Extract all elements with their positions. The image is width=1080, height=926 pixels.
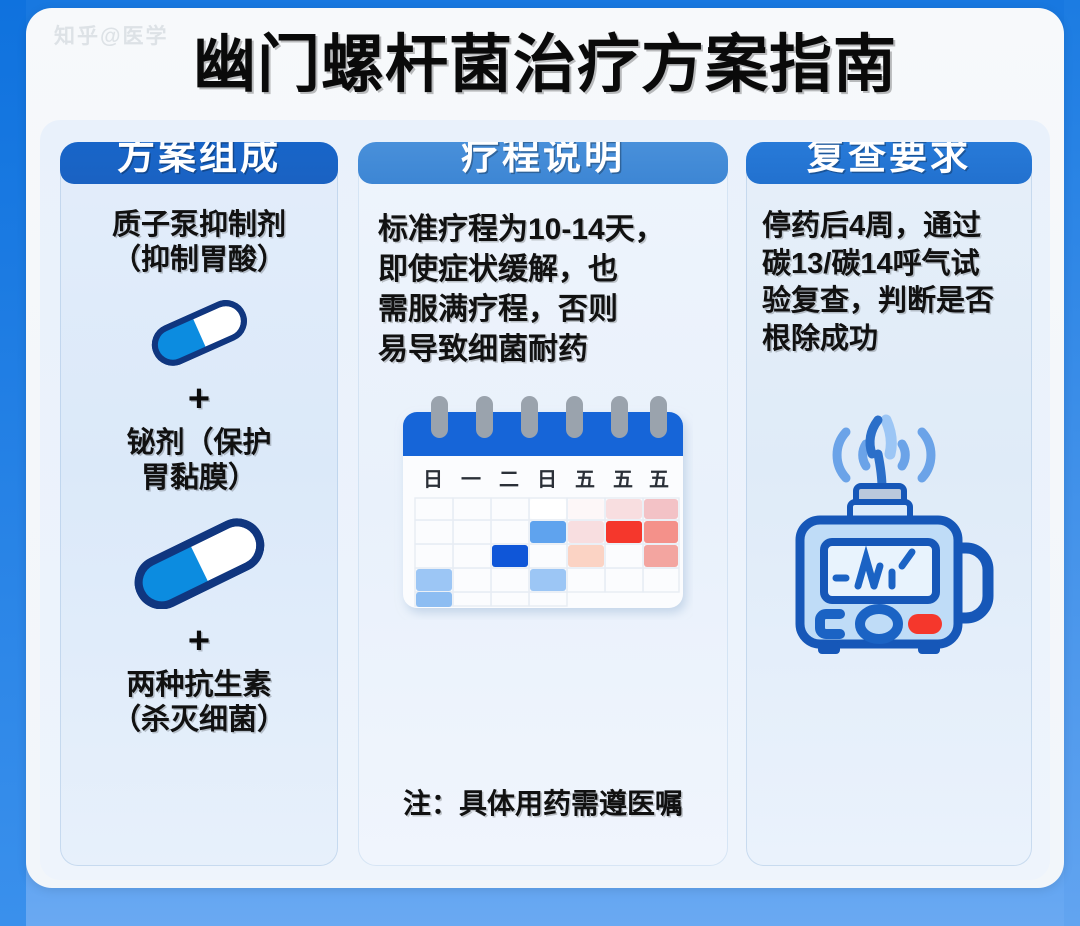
course-line2: 即使症状缓解，也	[378, 250, 710, 290]
svg-text:一: 一	[461, 469, 481, 491]
ppi-line1: 质子泵抑制剂	[70, 208, 328, 243]
capsule-icon-2-row	[60, 517, 338, 614]
recheck-line2: 碳13/碳14呼气试	[762, 246, 1020, 284]
antenna-stem	[878, 454, 882, 488]
column1-item3: 两种抗生素 （杀灭细菌）	[60, 666, 338, 739]
column3-text: 停药后4周，通过 碳13/碳14呼气试 验复查，判断是否 根除成功	[746, 184, 1032, 359]
infographic-frame: 知乎@医学 幽门螺杆菌治疗方案指南 方案组成 质子泵抑制剂 （抑制胃酸）	[0, 0, 1080, 926]
capsule-pill-icon	[134, 297, 264, 367]
page-title: 幽门螺杆菌治疗方案指南	[26, 34, 1064, 97]
columns-container: 方案组成 质子泵抑制剂 （抑制胃酸） +	[40, 120, 1050, 880]
right-blue-band	[1064, 0, 1080, 926]
bismuth-line2: 胃黏膜）	[70, 461, 328, 496]
column-header-course-explanation: 疗程说明	[358, 142, 728, 184]
device-illustration	[746, 360, 1032, 665]
breath-test-device-icon	[774, 360, 1004, 660]
svg-text:日: 日	[423, 469, 443, 491]
column-header-plan-composition: 方案组成	[60, 142, 338, 184]
column2-text: 标准疗程为10-14天， 即使症状缓解，也 需服满疗程，否则 易导致细菌耐药	[358, 184, 728, 370]
svg-text:五: 五	[613, 469, 633, 491]
plus-separator-2: +	[60, 622, 338, 660]
column-course-explanation: 疗程说明 标准疗程为10-14天， 即使症状缓解，也 需服满疗程，否则 易导致细…	[358, 142, 728, 866]
svg-text:日: 日	[537, 469, 557, 491]
capsule-pill-icon	[114, 517, 284, 609]
column-recheck-requirement: 复查要求 停药后4周，通过 碳13/碳14呼气试 验复查，判断是否 根除成功	[746, 142, 1032, 866]
svg-text:五: 五	[649, 469, 669, 491]
steam-wisp	[886, 420, 891, 454]
column-header-recheck-requirement: 复查要求	[746, 142, 1032, 184]
svg-text:五: 五	[575, 469, 595, 491]
column2-note: 注：具体用药需遵医嘱	[358, 782, 728, 822]
antibiotics-line2: （杀灭细菌）	[70, 703, 328, 738]
plus-separator-1: +	[60, 380, 338, 418]
recheck-line4: 根除成功	[762, 321, 1020, 359]
calendar-icon: 日 一 二 日 五 五 五	[393, 394, 693, 620]
ppi-line2: （抑制胃酸）	[70, 243, 328, 278]
svg-text:二: 二	[499, 469, 519, 491]
calendar-illustration: 日 一 二 日 五 五 五	[358, 394, 728, 625]
capsule-icon-1-row	[60, 297, 338, 372]
course-line1: 标准疗程为10-14天，	[378, 210, 710, 250]
device-foot-right	[918, 642, 940, 654]
recheck-line1: 停药后4周，通过	[762, 208, 1020, 246]
column-plan-composition: 方案组成 质子泵抑制剂 （抑制胃酸） +	[60, 142, 338, 866]
antibiotics-line1: 两种抗生素	[70, 668, 328, 703]
device-foot-left	[818, 642, 840, 654]
column1-intro: 质子泵抑制剂 （抑制胃酸）	[60, 184, 338, 279]
course-line4: 易导致细菌耐药	[378, 330, 710, 370]
left-blue-band	[0, 0, 26, 926]
antenna-tip	[870, 420, 878, 454]
recheck-line3: 验复查，判断是否	[762, 283, 1020, 321]
indicator-led	[908, 614, 942, 634]
course-line3: 需服满疗程，否则	[378, 290, 710, 330]
bismuth-line1: 铋剂（保护	[70, 426, 328, 461]
column1-item2: 铋剂（保护 胃黏膜）	[60, 424, 338, 497]
content-card: 知乎@医学 幽门螺杆菌治疗方案指南 方案组成 质子泵抑制剂 （抑制胃酸）	[26, 8, 1064, 888]
